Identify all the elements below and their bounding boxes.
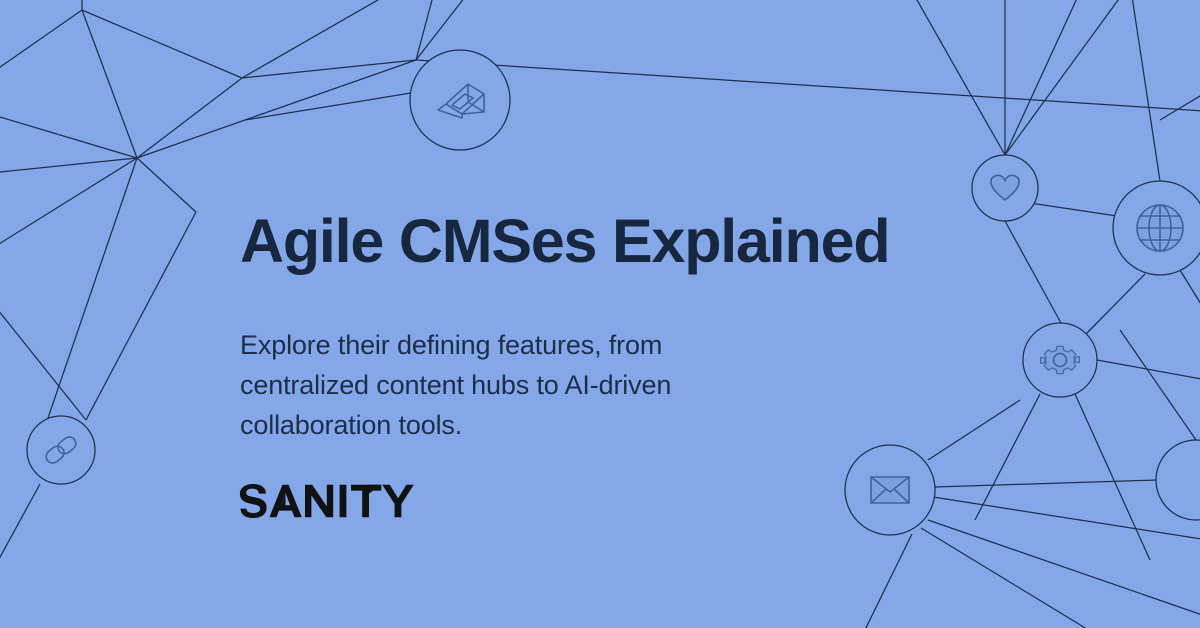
sanity-logo: SANITY — [238, 482, 414, 522]
node-edge-right — [1156, 440, 1200, 520]
node-link — [27, 416, 95, 484]
sanity-wordmark — [240, 484, 414, 518]
hero-content: Agile CMSes Explained Explore their defi… — [240, 0, 940, 628]
page-title: Agile CMSes Explained — [240, 206, 889, 276]
node-globe — [1113, 181, 1200, 275]
globe-icon — [1137, 205, 1183, 251]
social-card: Agile CMSes Explained Explore their defi… — [0, 0, 1200, 628]
node-heart — [972, 155, 1038, 221]
page-subtitle: Explore their defining features, from ce… — [240, 325, 785, 445]
node-gear — [1023, 323, 1097, 397]
